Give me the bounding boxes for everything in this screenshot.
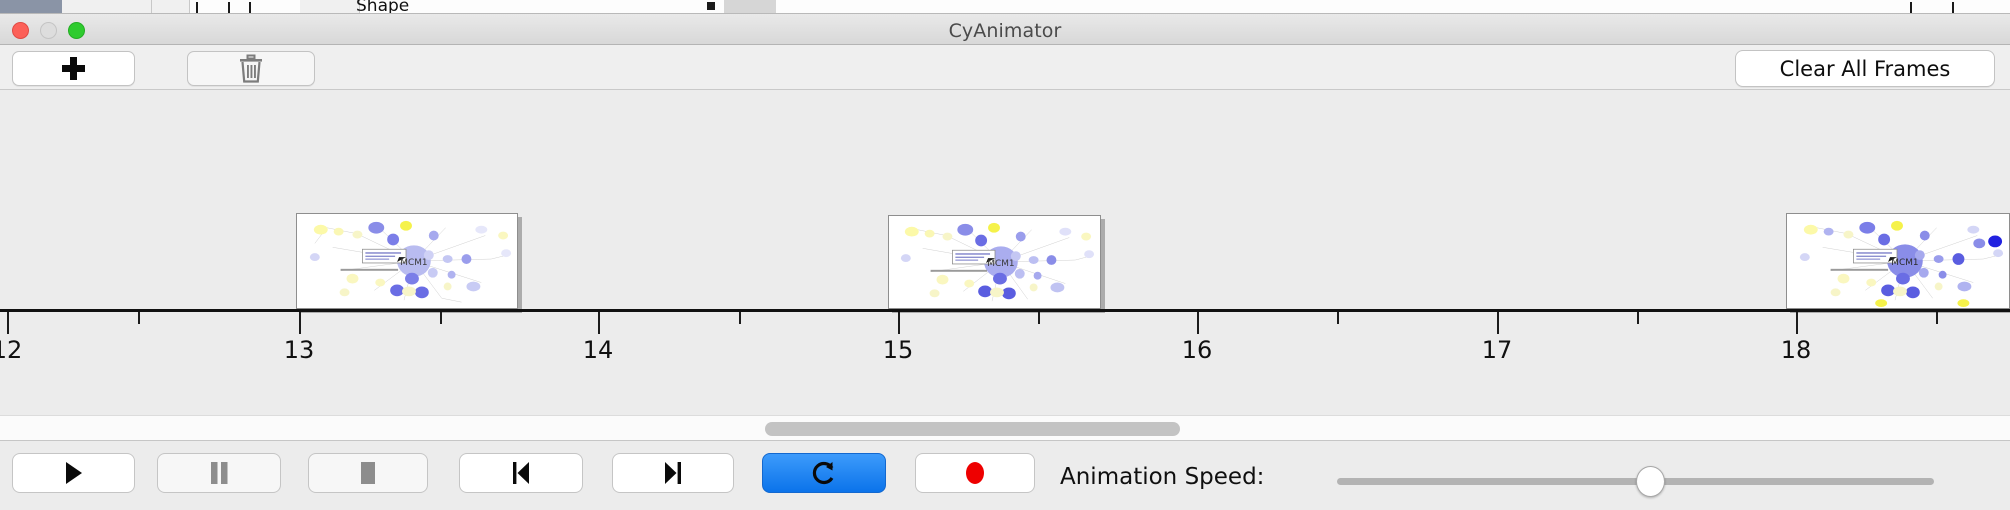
- background-window-label: Shape: [356, 0, 409, 14]
- axis-tick-major: [299, 312, 301, 334]
- skip-start-button[interactable]: [459, 453, 583, 493]
- loop-icon: [811, 459, 837, 487]
- axis-tick-major: [1796, 312, 1798, 334]
- timeline-axis-line: [0, 309, 2010, 312]
- axis-label: 15: [883, 336, 914, 364]
- axis-tick-minor: [1337, 312, 1339, 324]
- center-node-label: MCM1: [400, 258, 427, 268]
- frame-thumbnail[interactable]: MCM1: [1786, 213, 2010, 309]
- skip-end-icon: [660, 460, 686, 486]
- pause-button[interactable]: [157, 453, 281, 493]
- add-frame-button[interactable]: [12, 51, 135, 86]
- timeline-scrollbar[interactable]: [0, 415, 2010, 441]
- skip-end-button[interactable]: [612, 453, 734, 493]
- loop-button[interactable]: [762, 453, 886, 493]
- background-mark: [228, 2, 230, 14]
- background-mark: [1952, 2, 1954, 14]
- axis-tick-minor: [1936, 312, 1938, 324]
- network-graph-thumbnail: MCM1: [1787, 214, 2009, 308]
- scrollbar-thumb[interactable]: [765, 422, 1180, 436]
- record-button[interactable]: [915, 453, 1035, 493]
- record-icon: [962, 460, 988, 486]
- animation-speed-slider-thumb[interactable]: [1636, 466, 1665, 497]
- delete-frame-button[interactable]: [187, 51, 315, 86]
- clear-all-frames-button[interactable]: Clear All Frames: [1735, 50, 1995, 87]
- axis-tick-major: [1497, 312, 1499, 334]
- axis-tick-minor: [1038, 312, 1040, 324]
- network-graph-thumbnail: MCM1: [889, 216, 1100, 308]
- animation-speed-label: Animation Speed:: [1060, 464, 1264, 490]
- axis-label: 12: [0, 336, 22, 364]
- axis-label: 14: [583, 336, 614, 364]
- axis-tick-major: [1197, 312, 1199, 334]
- center-node-label: MCM1: [987, 259, 1014, 269]
- frames-area[interactable]: MCM1: [0, 90, 2010, 309]
- background-tab: [62, 0, 152, 14]
- center-node-label: MCM1: [1891, 258, 1918, 268]
- axis-tick-minor: [1637, 312, 1639, 324]
- play-button[interactable]: [12, 453, 135, 493]
- frame-toolbar: Clear All Frames: [0, 45, 2010, 90]
- skip-start-icon: [508, 460, 534, 486]
- background-tab: [152, 0, 190, 14]
- background-tab: [300, 0, 360, 14]
- play-icon: [62, 460, 86, 486]
- background-window-selection: [0, 0, 62, 14]
- frame-thumbnail[interactable]: MCM1: [296, 213, 518, 309]
- axis-label: 17: [1482, 336, 1513, 364]
- axis-label: 16: [1182, 336, 1213, 364]
- background-window: Shape: [0, 0, 2010, 14]
- stop-button[interactable]: [308, 453, 428, 493]
- window-title: CyAnimator: [0, 20, 2010, 42]
- axis-tick-major: [598, 312, 600, 334]
- trash-icon: [238, 54, 264, 84]
- background-mark: [249, 2, 251, 14]
- frame-thumbnail[interactable]: MCM1: [888, 215, 1101, 309]
- axis-tick-major: [7, 312, 9, 334]
- background-mark: [1910, 2, 1912, 14]
- playback-control-bar: Animation Speed:: [0, 441, 2010, 510]
- pause-icon: [207, 460, 231, 486]
- axis-label: 18: [1781, 336, 1812, 364]
- timeline-panel[interactable]: MCM1: [0, 90, 2010, 409]
- axis-tick-minor: [440, 312, 442, 324]
- background-mark: [196, 2, 198, 14]
- network-graph-thumbnail: MCM1: [297, 214, 517, 308]
- axis-tick-minor: [739, 312, 741, 324]
- axis-label: 13: [284, 336, 315, 364]
- stop-icon: [356, 460, 380, 486]
- axis-tick-minor: [138, 312, 140, 324]
- axis-tick-major: [898, 312, 900, 334]
- title-bar: CyAnimator: [0, 14, 2010, 45]
- background-mark: [707, 2, 715, 10]
- plus-icon: [62, 57, 85, 80]
- background-block: [724, 0, 776, 14]
